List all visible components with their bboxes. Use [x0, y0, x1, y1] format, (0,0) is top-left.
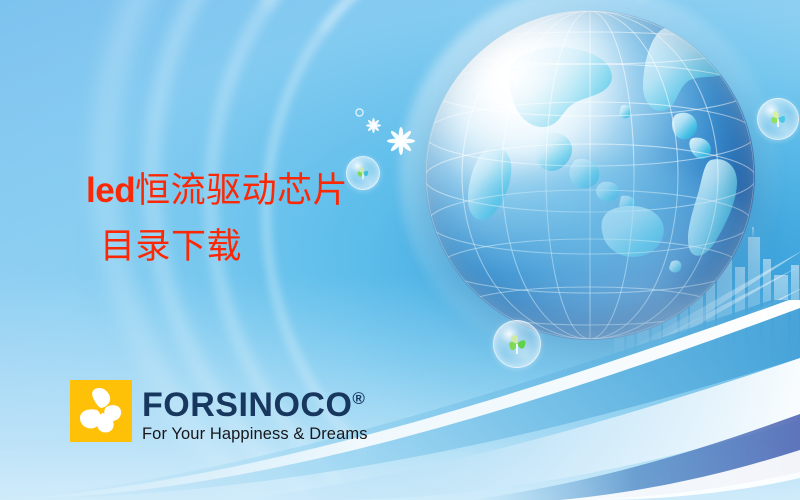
- promotional-banner: led恒流驱动芯片 目录下载 FORSINOCO® For: [0, 0, 800, 500]
- logo-wordmark: FORSINOCO®: [142, 381, 368, 423]
- bubble-pinwheel-mid-left: [346, 156, 380, 190]
- registered-trademark-icon: ®: [352, 389, 365, 408]
- bubble-pinwheel-lower-center: [493, 320, 541, 368]
- brand-logo: FORSINOCO® For Your Happiness & Dreams: [70, 380, 368, 444]
- headline-cjk-part: 恒流驱动芯片: [135, 171, 348, 211]
- headline-latin-prefix: led: [86, 171, 135, 210]
- logo-tagline: For Your Happiness & Dreams: [142, 424, 368, 444]
- forsinoco-pinwheel-mark-icon: [70, 380, 132, 442]
- logo-wordmark-text: FORSINOCO: [142, 386, 352, 424]
- bubble-pinwheel-top-right: [757, 98, 799, 140]
- sparkle-flower-large-icon: [386, 126, 416, 156]
- sparkle-dot-icon: [355, 108, 364, 117]
- sparkle-flower-small-icon: [365, 117, 382, 134]
- headline-line-1: led恒流驱动芯片: [86, 163, 348, 219]
- page-title: led恒流驱动芯片 目录下载: [86, 163, 348, 275]
- headline-line-2: 目录下载: [100, 219, 348, 275]
- logo-text-block: FORSINOCO® For Your Happiness & Dreams: [142, 380, 368, 444]
